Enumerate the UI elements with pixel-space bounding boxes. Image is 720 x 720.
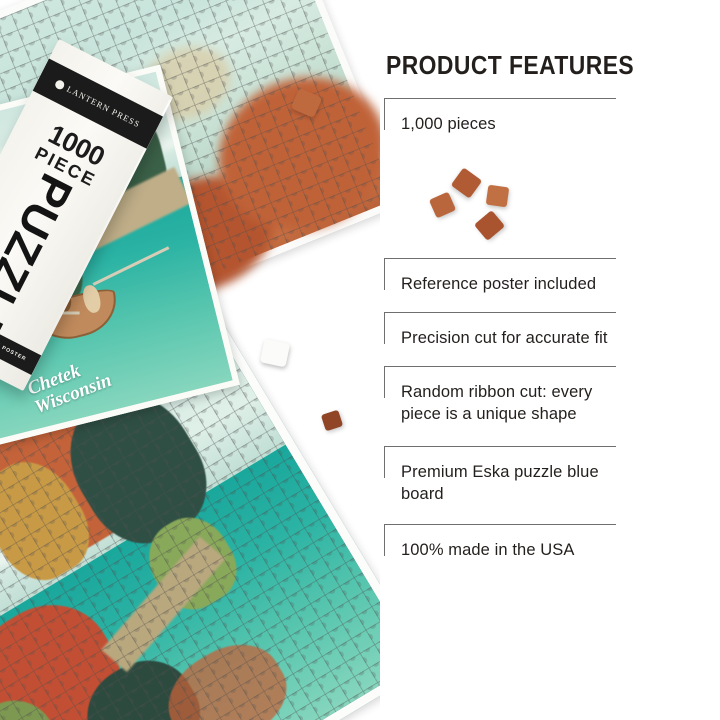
feature-tick: [384, 524, 385, 556]
feature-tick: [384, 258, 385, 290]
loose-puzzle-piece: [321, 410, 343, 432]
lantern-press-logo-icon: [54, 78, 66, 90]
page-title: PRODUCT FEATURES: [386, 50, 634, 81]
loose-puzzle-piece: [260, 339, 290, 368]
product-features-panel: PRODUCT FEATURES 1,000 pieces Reference …: [384, 0, 720, 720]
feature-divider: [384, 366, 616, 367]
feature-label: 1,000 pieces: [401, 113, 616, 135]
feature-tick: [384, 446, 385, 478]
feature-label: Random ribbon cut: every piece is a uniq…: [401, 381, 616, 425]
feature-tick: [384, 366, 385, 398]
feature-divider: [384, 524, 616, 525]
feature-divider: [384, 258, 616, 259]
feature-divider: [384, 446, 616, 447]
feature-label: Premium Eska puzzle blue board: [401, 461, 616, 505]
feature-label: Precision cut for accurate fit: [401, 327, 616, 349]
product-photo: Chetek Wisconsin LANTERN PRESS 1000 PIEC…: [0, 0, 380, 720]
feature-label: Reference poster included: [401, 273, 616, 295]
brand-name: LANTERN PRESS: [65, 84, 142, 130]
feature-divider: [384, 98, 616, 99]
feature-tick: [384, 312, 385, 344]
feature-divider: [384, 312, 616, 313]
feature-tick: [384, 98, 385, 130]
feature-label: 100% made in the USA: [401, 539, 616, 561]
